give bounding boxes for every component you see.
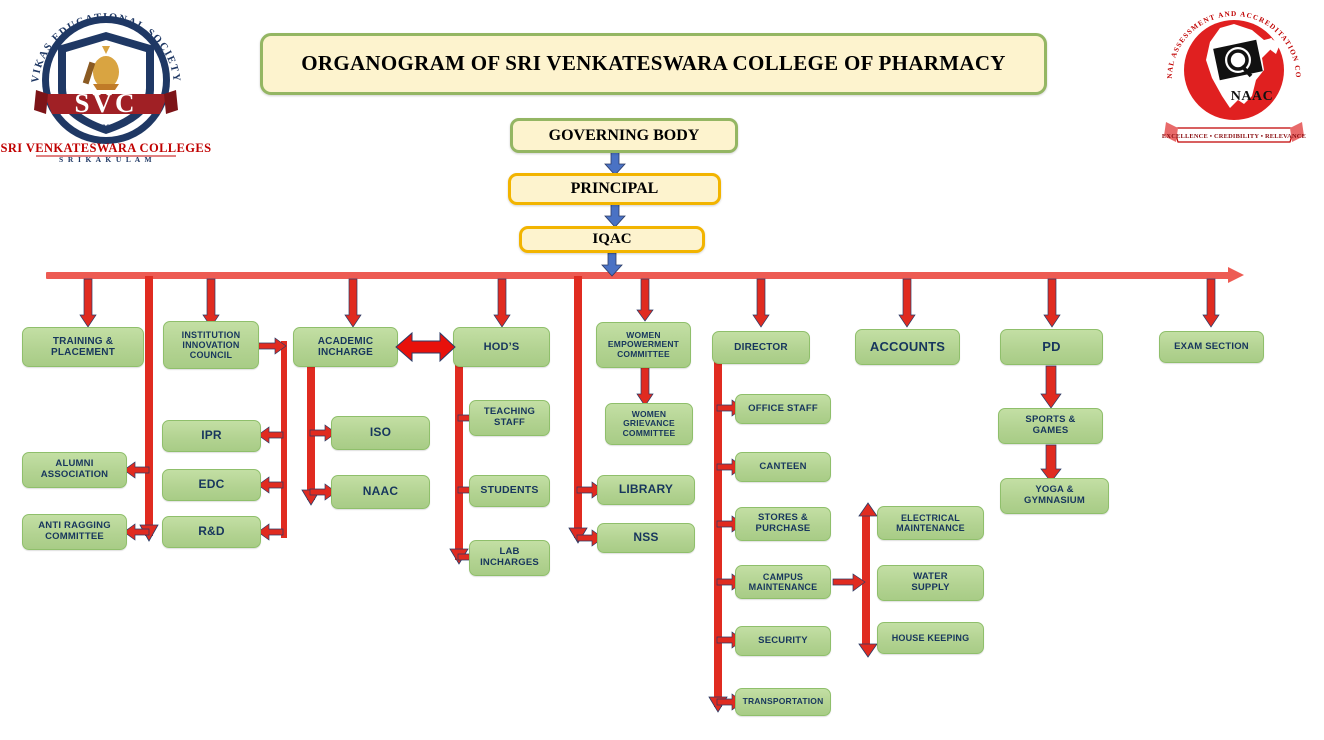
node-water-supply[interactable]: WATER SUPPLY — [877, 565, 984, 601]
node-office-staff[interactable]: OFFICE STAFF — [735, 394, 831, 424]
node-library[interactable]: LIBRARY — [597, 475, 695, 505]
node-label: ACADEMIC INCHARGE — [318, 336, 374, 358]
node-teaching-staff[interactable]: TEACHING STAFF — [469, 400, 550, 436]
node-house-keeping[interactable]: HOUSE KEEPING — [877, 622, 984, 654]
arrowhead-down-maintenance-group — [857, 643, 879, 657]
blue-arrow-principal-to-iqac — [604, 204, 626, 228]
node-hods[interactable]: HOD’S — [453, 327, 550, 367]
arrow-to-anti-ragging-committee — [124, 524, 150, 540]
node-label: STUDENTS — [480, 485, 538, 497]
node-ipr[interactable]: IPR — [162, 420, 261, 452]
node-stores-purchase[interactable]: STORES & PURCHASE — [735, 507, 831, 541]
drop-arrow-women-empowerment-committee — [636, 279, 654, 323]
drop-arrow-director — [752, 279, 770, 329]
node-governing-body[interactable]: GOVERNING BODY — [510, 118, 738, 153]
node-label: HOUSE KEEPING — [892, 633, 970, 643]
node-campus-maintenance[interactable]: CAMPUS MAINTENANCE — [735, 565, 831, 599]
main-distribution-bar — [46, 272, 1236, 279]
node-nss[interactable]: NSS — [597, 523, 695, 553]
node-label: TRAINING & PLACEMENT — [51, 336, 115, 358]
node-label: WOMEN GRIEVANCE COMMITTEE — [623, 410, 676, 439]
node-director[interactable]: DIRECTOR — [712, 331, 810, 364]
node-label: WOMEN EMPOWERMENT COMMITTEE — [608, 331, 679, 360]
node-women-grievance-committee[interactable]: WOMEN GRIEVANCE COMMITTEE — [605, 403, 693, 445]
node-label: TEACHING STAFF — [484, 407, 535, 428]
svc-college-name: SRI VENKATESWARA COLLEGES — [1, 141, 212, 155]
naac-banner-text: EXCELLENCE • CREDIBILITY • RELEVANCE — [1162, 133, 1306, 140]
node-iqac[interactable]: IQAC — [519, 226, 705, 253]
arrowhead-up-maintenance-group — [857, 503, 879, 517]
node-label: LAB INCHARGES — [480, 547, 539, 568]
node-principal[interactable]: PRINCIPAL — [508, 173, 721, 205]
node-yoga-gymnasium[interactable]: YOGA & GYMNASIUM — [1000, 478, 1109, 514]
node-naac[interactable]: NAAC — [331, 475, 430, 509]
node-label: INSTITUTION INNOVATION COUNCIL — [182, 330, 241, 360]
node-label: SPORTS & GAMES — [1025, 415, 1075, 436]
drop-arrow-hods — [493, 279, 511, 329]
node-transportation[interactable]: TRANSPORTATION — [735, 688, 831, 716]
node-edc[interactable]: EDC — [162, 469, 261, 501]
node-alumni-association[interactable]: ALUMNI ASSOCIATION — [22, 452, 127, 488]
naac-logo: NAAC NATIONAL ASSESSMENT AND ACCREDITATI… — [1160, 4, 1308, 150]
svc-year: 1997 — [98, 122, 116, 132]
node-label: CANTEEN — [759, 462, 806, 473]
node-label: TRANSPORTATION — [743, 697, 824, 707]
drop-arrow-accounts — [898, 279, 916, 329]
blue-arrow-iqac-to-bar — [601, 253, 623, 277]
node-label: EDC — [199, 478, 225, 491]
node-exam-section[interactable]: EXAM SECTION — [1159, 331, 1264, 363]
node-women-empowerment-committee[interactable]: WOMEN EMPOWERMENT COMMITTEE — [596, 322, 691, 368]
svc-logo: VIKAS EDUCATIONAL SOCIETY SVC 1997 SRI V… — [14, 2, 198, 162]
node-security[interactable]: SECURITY — [735, 626, 831, 656]
node-label: YOGA & GYMNASIUM — [1024, 485, 1085, 506]
node-electrical-maintenance[interactable]: ELECTRICAL MAINTENANCE — [877, 506, 984, 540]
node-label: ANTI RAGGING COMMITTEE — [38, 521, 111, 542]
organogram-canvas: VIKAS EDUCATIONAL SOCIETY SVC 1997 SRI V… — [0, 0, 1324, 740]
node-academic-incharge[interactable]: ACADEMIC INCHARGE — [293, 327, 398, 367]
arrow-iic-to-vertical — [258, 338, 286, 354]
node-rnd[interactable]: R&D — [162, 516, 261, 548]
node-label: DIRECTOR — [734, 342, 788, 353]
connector-line-library-nss — [574, 276, 582, 538]
node-label: ALUMNI ASSOCIATION — [41, 459, 108, 480]
node-iso[interactable]: ISO — [331, 416, 430, 450]
arrow-to-women-grievance-committee — [636, 366, 654, 408]
node-label: EXAM SECTION — [1174, 342, 1249, 353]
connector-line-alumni-antiragging — [145, 276, 153, 536]
node-label: ISO — [370, 426, 391, 439]
arrow-to-rnd — [258, 524, 284, 540]
node-anti-ragging-committee[interactable]: ANTI RAGGING COMMITTEE — [22, 514, 127, 550]
node-label: R&D — [198, 525, 225, 538]
drop-arrow-academic-incharge — [344, 279, 362, 329]
node-label: PD — [1042, 340, 1060, 355]
drop-arrow-training-placement — [79, 279, 97, 329]
arrow-campus-to-maintenance-group — [833, 574, 865, 591]
node-label: STORES & PURCHASE — [756, 513, 811, 534]
bidirectional-arrow-academic-hods — [396, 330, 456, 364]
node-canteen[interactable]: CANTEEN — [735, 452, 831, 482]
arrow-to-edc — [258, 477, 284, 493]
drop-arrow-exam-section — [1202, 279, 1220, 329]
node-label: CAMPUS MAINTENANCE — [749, 572, 818, 592]
arrow-to-alumni-association — [124, 462, 150, 478]
svc-city: S R I K A K U L A M — [59, 155, 153, 164]
naac-acronym: NAAC — [1231, 89, 1273, 104]
arrow-to-ipr — [258, 427, 284, 443]
node-institution-innovation-council[interactable]: INSTITUTION INNOVATION COUNCIL — [163, 321, 259, 369]
node-label: OFFICE STAFF — [748, 404, 818, 415]
node-lab-incharges[interactable]: LAB INCHARGES — [469, 540, 550, 576]
arrow-pd-to-sports-games — [1040, 366, 1062, 410]
node-label: WATER SUPPLY — [911, 572, 949, 593]
node-label: NAAC — [363, 485, 398, 498]
node-sports-games[interactable]: SPORTS & GAMES — [998, 408, 1103, 444]
node-accounts[interactable]: ACCOUNTS — [855, 329, 960, 365]
node-label: HOD’S — [484, 341, 520, 353]
connector-line-hods-children — [455, 365, 463, 560]
node-label: SECURITY — [758, 636, 808, 647]
node-pd[interactable]: PD — [1000, 329, 1103, 365]
main-bar-arrowhead — [1228, 264, 1252, 288]
svc-monogram: SVC — [74, 88, 137, 118]
node-label: ELECTRICAL MAINTENANCE — [896, 513, 965, 533]
page-title: ORGANOGRAM OF SRI VENKATESWARA COLLEGE O… — [260, 33, 1047, 95]
node-label: ACCOUNTS — [870, 340, 945, 355]
node-label: NSS — [633, 531, 658, 544]
drop-arrow-pd — [1043, 279, 1061, 329]
node-label: LIBRARY — [619, 483, 673, 496]
node-training-placement[interactable]: TRAINING & PLACEMENT — [22, 327, 144, 367]
node-students[interactable]: STUDENTS — [469, 475, 550, 507]
node-label: IPR — [201, 429, 222, 442]
